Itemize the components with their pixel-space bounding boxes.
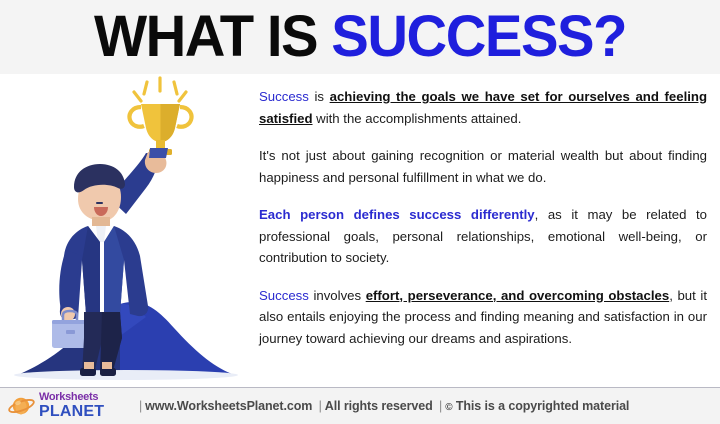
businessman-trophy-svg [8,74,248,386]
footer-bar: Worksheets PLANET |www.WorksheetsPlanet.… [0,388,720,424]
planet-icon [8,395,36,417]
title-blue-part: SUCCESS? [331,4,626,69]
footer-rights: All rights reserved [325,399,433,413]
footer-sep-3: | [436,399,445,413]
p2-run-0: It's not just about gaining recognition … [259,148,707,185]
body-copy: Success is achieving the goals we have s… [259,86,707,349]
paragraph-2: It's not just about gaining recognition … [259,145,707,188]
success-illustration [8,74,248,386]
worksheets-planet-logo[interactable]: Worksheets PLANET [8,391,126,421]
footer-sep-1: | [136,399,145,413]
paragraph-3: Each person defines success differently,… [259,204,707,269]
p1-run-0: Success [259,89,309,104]
poster-page: WHAT IS SUCCESS? [0,0,720,424]
page-title: WHAT IS SUCCESS? [94,8,626,66]
mountain-shape [14,302,238,380]
p1-run-3: with the accomplishments attained. [313,111,522,126]
title-black-part: WHAT IS [94,4,331,69]
ankle-left [84,362,94,369]
logo-top-word: Worksheets [39,392,104,403]
footer-credits: |www.WorksheetsPlanet.com |All rights re… [136,399,629,413]
copyright-icon: © [445,402,452,413]
paragraph-1: Success is achieving the goals we have s… [259,86,707,129]
footer-copyright-text: This is a copyrighted material [456,399,629,413]
p1-run-1: is [309,89,330,104]
logo-wordmark: Worksheets PLANET [39,392,104,420]
sparkle-icon [134,78,186,101]
trophy-icon [129,104,191,155]
p4-run-1: involves [309,288,366,303]
p4-run-2: effort, perseverance, and overcoming obs… [366,288,670,303]
p3-run-0: Each person defines success differently [259,207,535,222]
footer-website[interactable]: www.WorksheetsPlanet.com [145,399,312,413]
head [74,164,125,221]
header-banner: WHAT IS SUCCESS? [0,0,720,74]
paragraph-4: Success involves effort, perseverance, a… [259,285,707,350]
p4-run-0: Success [259,288,309,303]
ankle-right [102,362,112,369]
logo-bottom-word: PLANET [39,404,104,420]
footer-sep-2: | [316,399,325,413]
